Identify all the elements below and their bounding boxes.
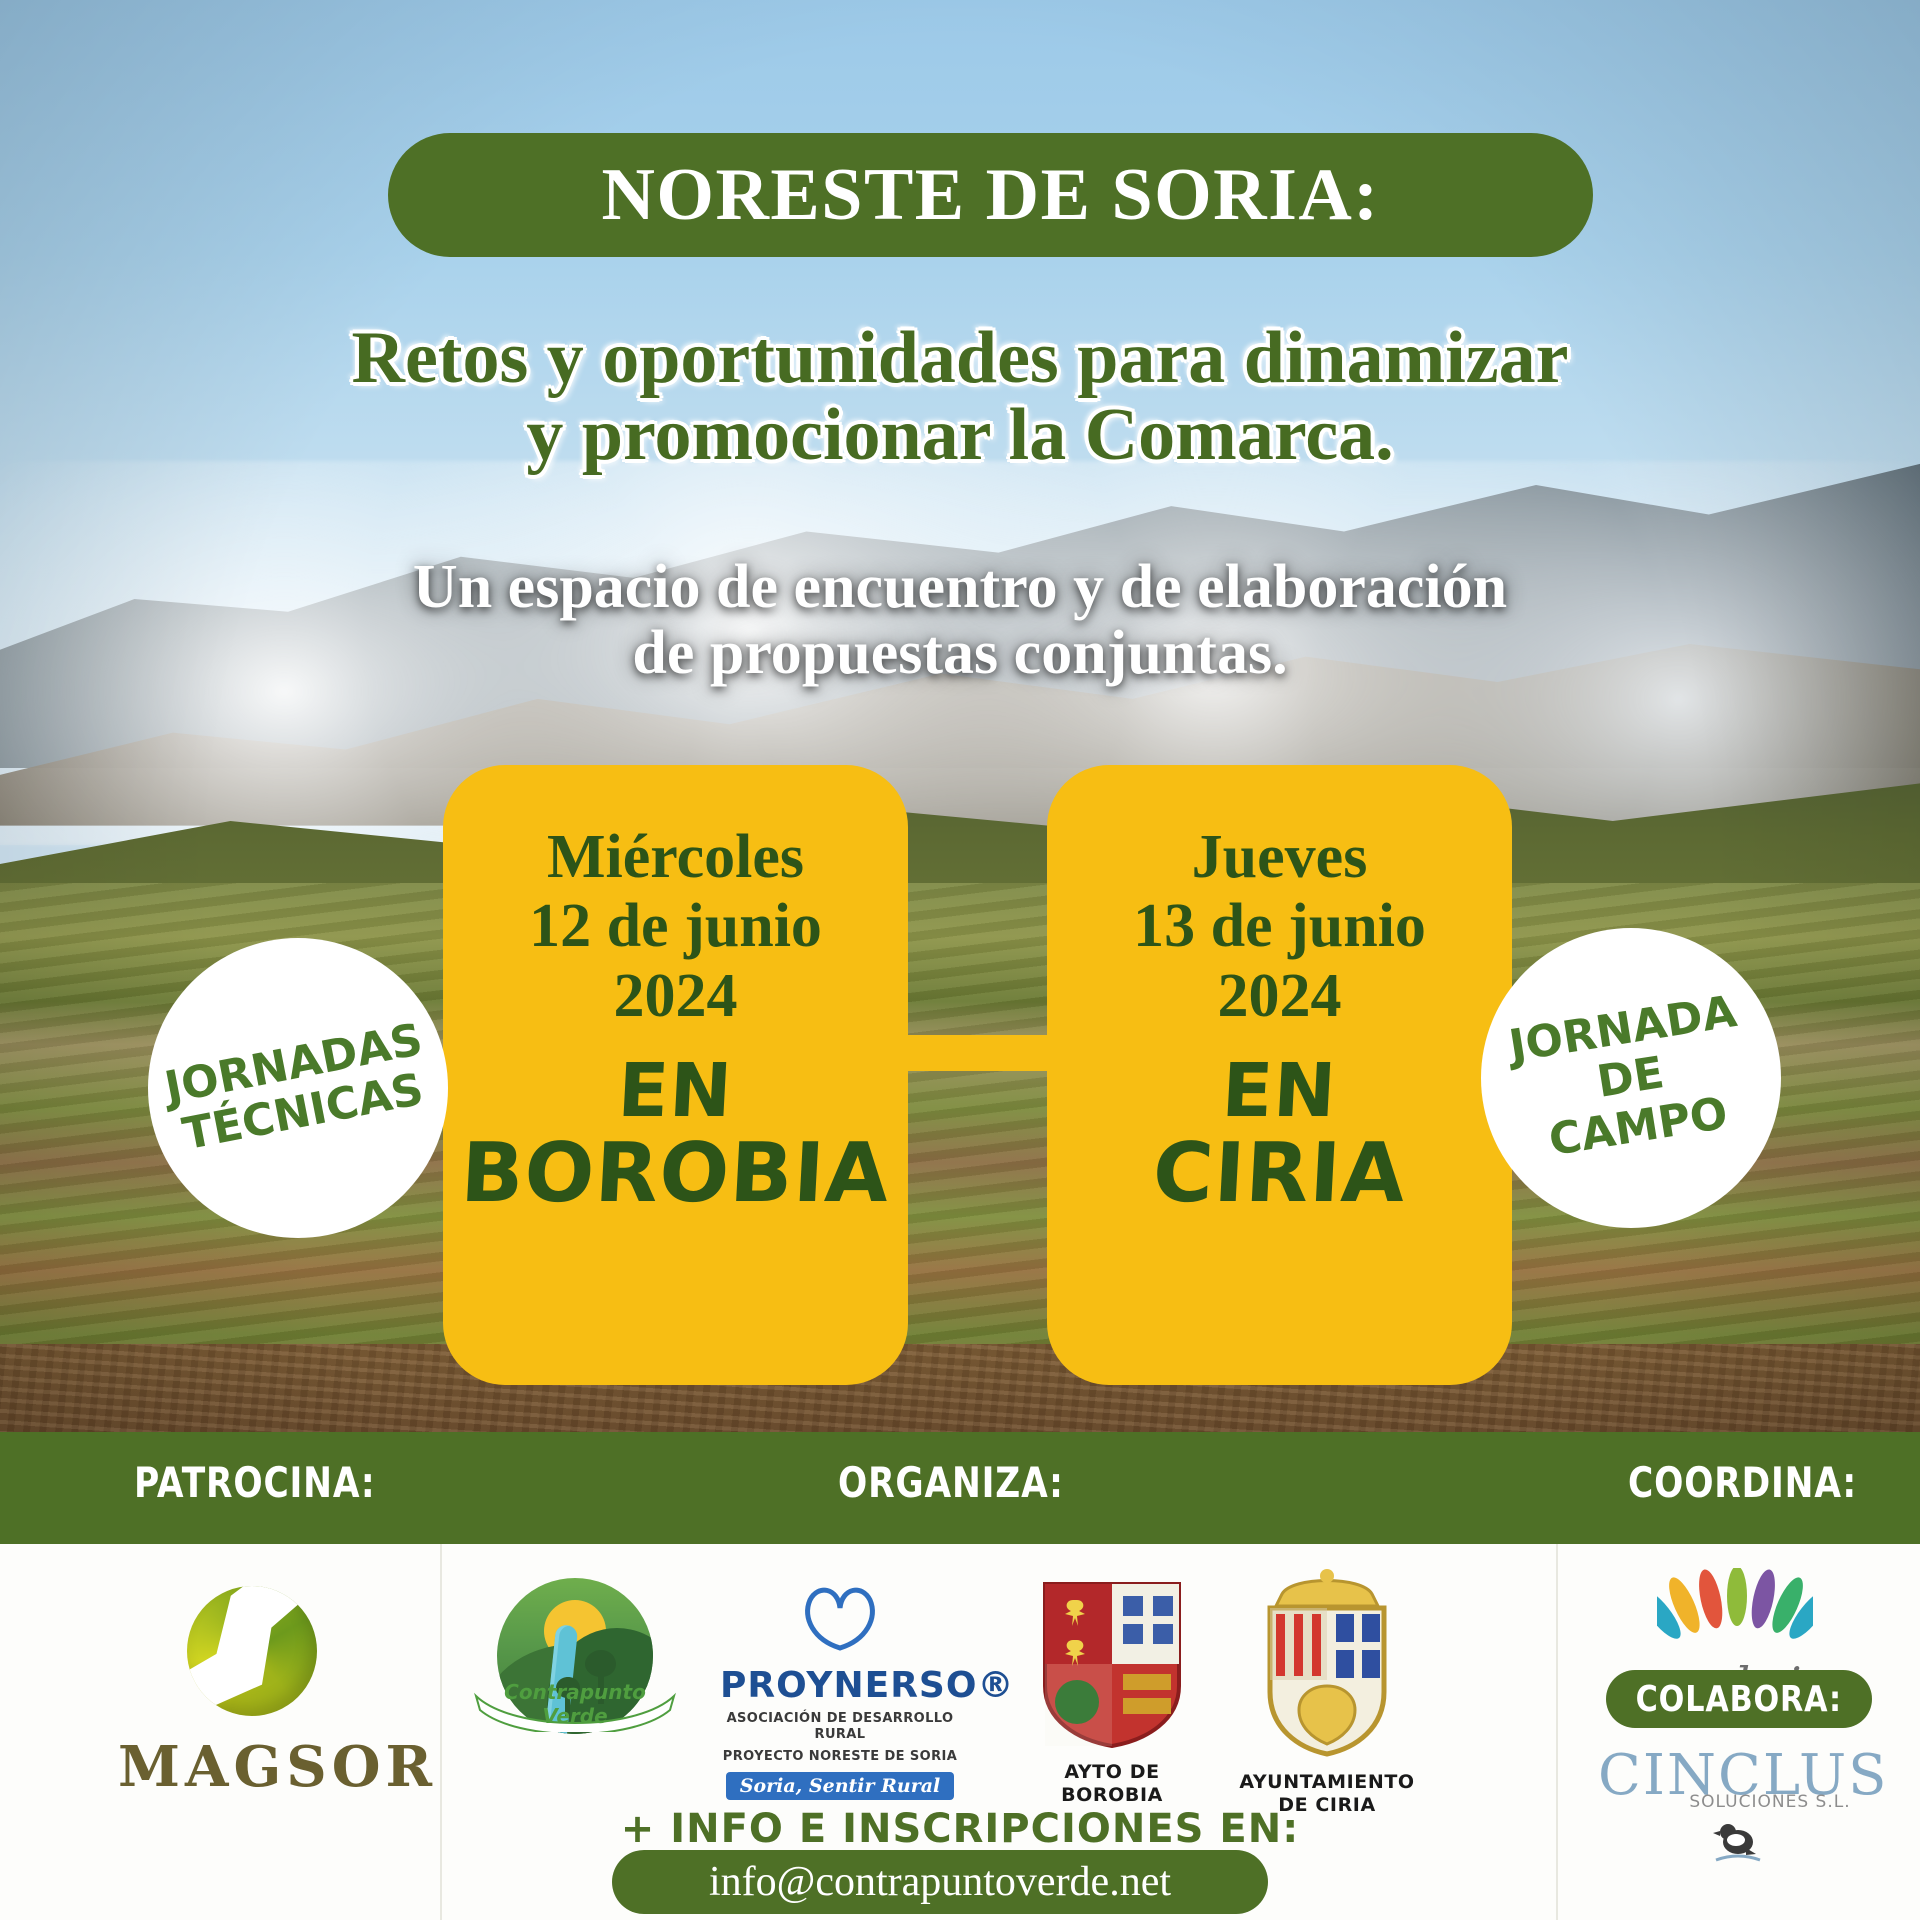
date-card-ciria: Jueves 13 de junio 2024 EN CIRIA [1047, 765, 1512, 1385]
card-year: 2024 [1218, 962, 1342, 1031]
proynerso-subtitle-2: PROYECTO NORESTE DE SORIA [720, 1749, 960, 1765]
colabora-banner: COLABORA: [1606, 1670, 1872, 1728]
logo-contrapunto-verde: Contrapunto Verde [470, 1578, 680, 1734]
headline-line-1: Retos y oportunidades para dinamizar [0, 320, 1920, 397]
sembria-fan-icon [1657, 1568, 1813, 1650]
card-en-label: EN [616, 1053, 735, 1131]
borobia-coat-of-arms-icon [1037, 1578, 1187, 1750]
magsor-wordmark: MAGSOR [118, 1734, 386, 1800]
subheadline-text: Un espacio de encuentro y de elaboración… [0, 555, 1920, 686]
ciria-coat-of-arms-icon [1252, 1564, 1402, 1760]
card-date: 13 de junio [1133, 892, 1426, 961]
column-divider [1556, 1544, 1558, 1920]
subheadline-line-1: Un espacio de encuentro y de elaboración [0, 555, 1920, 621]
email-banner[interactable]: info@contrapuntoverde.net [612, 1850, 1268, 1914]
badge-jornada-de-campo: JORNADA DE CAMPO [1481, 928, 1781, 1228]
badge-text-wrap: JORNADA DE CAMPO [1506, 987, 1755, 1169]
card-date: 12 de junio [529, 892, 822, 961]
card-place: CIRIA [1151, 1131, 1408, 1217]
proynerso-tagline: Soria, Sentir Rural [726, 1772, 955, 1800]
headline-text: Retos y oportunidades para dinamizar y p… [0, 320, 1920, 474]
badge-jornadas-tecnicas: JORNADAS TÉCNICAS [148, 938, 448, 1238]
card-place: BOROBIA [459, 1131, 892, 1217]
proynerso-butterfly-icon [794, 1578, 886, 1656]
poster-title-banner: NORESTE DE SORIA: [388, 133, 1593, 257]
contact-email[interactable]: info@contrapuntoverde.net [709, 1858, 1171, 1906]
column-divider [440, 1544, 442, 1920]
card-weekday: Miércoles [547, 823, 804, 892]
badge-text-wrap: JORNADAS TÉCNICAS [161, 1015, 436, 1161]
colabora-label: COLABORA: [1636, 1679, 1842, 1720]
logo-proynerso: PROYNERSO® ASOCIACIÓN DE DESARROLLO RURA… [720, 1578, 960, 1800]
info-label: + INFO E INSCRIPCIONES EN: [0, 1806, 1920, 1852]
subheadline-line-2: de propuestas conjuntas. [0, 621, 1920, 687]
card-year: 2024 [614, 962, 738, 1031]
page-title: NORESTE DE SORIA: [601, 153, 1379, 238]
event-poster: NORESTE DE SORIA: Retos y oportunidades … [0, 0, 1920, 1920]
organiza-label: ORGANIZA: [838, 1458, 1064, 1507]
card-en-label: EN [1220, 1053, 1339, 1131]
logo-ayuntamiento-ciria: AYUNTAMIENTO DE CIRIA [1222, 1564, 1432, 1817]
proynerso-subtitle-1: ASOCIACIÓN DE DESARROLLO RURAL [720, 1711, 960, 1744]
card-weekday: Jueves [1192, 823, 1368, 892]
patrocina-label: PATROCINA: [134, 1458, 376, 1507]
magsor-sphere-icon [187, 1586, 317, 1716]
ciria-caption-line-1: AYUNTAMIENTO [1222, 1771, 1432, 1794]
ayto-borobia-caption: AYTO DE BOROBIA [1012, 1761, 1212, 1807]
date-card-borobia: Miércoles 12 de junio 2024 EN BOROBIA [443, 765, 908, 1385]
credits-band: PATROCINA: ORGANIZA: COORDINA: [0, 1432, 1920, 1544]
headline-line-2: y promocionar la Comarca. [0, 397, 1920, 474]
proynerso-wordmark: PROYNERSO® [720, 1665, 960, 1706]
contrapunto-verde-wordmark: Contrapunto Verde [470, 1680, 680, 1728]
coordina-label: COORDINA: [1628, 1458, 1857, 1507]
logo-magsor: MAGSOR [118, 1586, 386, 1800]
logo-ayto-borobia: AYTO DE BOROBIA [1012, 1578, 1212, 1807]
